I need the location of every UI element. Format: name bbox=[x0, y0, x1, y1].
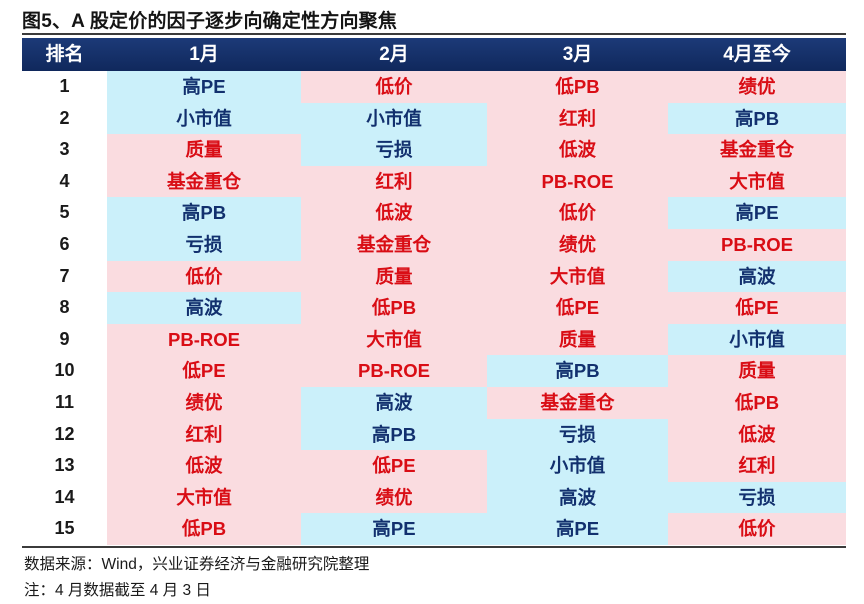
data-cutoff-note: 注：4 月数据截至 4 月 3 日 bbox=[24, 578, 211, 600]
table-row: 10低PEPB-ROE高PB质量 bbox=[22, 355, 846, 387]
factor-cell-apr: 高PE bbox=[668, 197, 846, 229]
factor-cell-mar: PB-ROE bbox=[487, 166, 668, 198]
table-row: 7低价质量大市值高波 bbox=[22, 261, 846, 293]
factor-cell-jan: PB-ROE bbox=[107, 324, 301, 356]
factor-cell-feb: 小市值 bbox=[301, 103, 487, 135]
factor-cell-jan: 高PE bbox=[107, 71, 301, 103]
source-note: 数据来源：Wind，兴业证券经济与金融研究院整理 bbox=[24, 552, 369, 574]
table-row: 8高波低PB低PE低PE bbox=[22, 292, 846, 324]
rank-cell: 13 bbox=[22, 450, 107, 482]
rank-cell: 6 bbox=[22, 229, 107, 261]
factor-cell-feb: 红利 bbox=[301, 166, 487, 198]
factor-cell-mar: 绩优 bbox=[487, 229, 668, 261]
factor-cell-feb: 高波 bbox=[301, 387, 487, 419]
table-row: 2小市值小市值红利高PB bbox=[22, 103, 846, 135]
factor-cell-jan: 低PE bbox=[107, 355, 301, 387]
factor-cell-apr: 红利 bbox=[668, 450, 846, 482]
factor-cell-feb: 低价 bbox=[301, 71, 487, 103]
factor-cell-feb: 基金重仓 bbox=[301, 229, 487, 261]
factor-cell-jan: 基金重仓 bbox=[107, 166, 301, 198]
column-header-feb: 2月 bbox=[301, 38, 487, 71]
rank-cell: 2 bbox=[22, 103, 107, 135]
table-row: 6亏损基金重仓绩优PB-ROE bbox=[22, 229, 846, 261]
factor-cell-jan: 低PB bbox=[107, 513, 301, 545]
factor-cell-jan: 小市值 bbox=[107, 103, 301, 135]
factor-cell-feb: PB-ROE bbox=[301, 355, 487, 387]
factor-cell-feb: 质量 bbox=[301, 261, 487, 293]
column-header-mar: 3月 bbox=[487, 38, 668, 71]
factor-cell-mar: 高PE bbox=[487, 513, 668, 545]
rank-cell: 11 bbox=[22, 387, 107, 419]
factor-cell-apr: 低PB bbox=[668, 387, 846, 419]
factor-cell-apr: 低PE bbox=[668, 292, 846, 324]
factor-cell-mar: 基金重仓 bbox=[487, 387, 668, 419]
factor-cell-apr: 基金重仓 bbox=[668, 134, 846, 166]
factor-cell-mar: 低价 bbox=[487, 197, 668, 229]
factor-cell-apr: 小市值 bbox=[668, 324, 846, 356]
factor-cell-apr: 亏损 bbox=[668, 482, 846, 514]
factor-cell-jan: 亏损 bbox=[107, 229, 301, 261]
factor-cell-feb: 低PB bbox=[301, 292, 487, 324]
factor-cell-mar: 大市值 bbox=[487, 261, 668, 293]
table-body: 1高PE低价低PB绩优2小市值小市值红利高PB3质量亏损低波基金重仓4基金重仓红… bbox=[22, 71, 846, 545]
factor-cell-mar: 高波 bbox=[487, 482, 668, 514]
table-row: 1高PE低价低PB绩优 bbox=[22, 71, 846, 103]
factor-cell-feb: 高PB bbox=[301, 419, 487, 451]
factor-cell-mar: 低波 bbox=[487, 134, 668, 166]
factor-cell-apr: PB-ROE bbox=[668, 229, 846, 261]
factor-cell-apr: 高PB bbox=[668, 103, 846, 135]
factor-cell-apr: 质量 bbox=[668, 355, 846, 387]
rank-cell: 7 bbox=[22, 261, 107, 293]
table-row: 5高PB低波低价高PE bbox=[22, 197, 846, 229]
factor-cell-mar: 高PB bbox=[487, 355, 668, 387]
table-row: 4基金重仓红利PB-ROE大市值 bbox=[22, 166, 846, 198]
factor-cell-jan: 红利 bbox=[107, 419, 301, 451]
factor-cell-mar: 亏损 bbox=[487, 419, 668, 451]
factor-cell-apr: 高波 bbox=[668, 261, 846, 293]
table-row: 11绩优高波基金重仓低PB bbox=[22, 387, 846, 419]
rank-cell: 5 bbox=[22, 197, 107, 229]
rank-cell: 8 bbox=[22, 292, 107, 324]
factor-cell-feb: 亏损 bbox=[301, 134, 487, 166]
factor-cell-mar: 质量 bbox=[487, 324, 668, 356]
factor-cell-mar: 低PB bbox=[487, 71, 668, 103]
factor-cell-apr: 低波 bbox=[668, 419, 846, 451]
rank-cell: 3 bbox=[22, 134, 107, 166]
factor-cell-jan: 低波 bbox=[107, 450, 301, 482]
factor-cell-mar: 低PE bbox=[487, 292, 668, 324]
factor-cell-apr: 大市值 bbox=[668, 166, 846, 198]
rank-cell: 14 bbox=[22, 482, 107, 514]
factor-cell-feb: 绩优 bbox=[301, 482, 487, 514]
factor-cell-jan: 大市值 bbox=[107, 482, 301, 514]
factor-cell-jan: 高波 bbox=[107, 292, 301, 324]
factor-cell-feb: 大市值 bbox=[301, 324, 487, 356]
column-header-rank: 排名 bbox=[22, 38, 107, 71]
factor-cell-mar: 小市值 bbox=[487, 450, 668, 482]
figure-container: 图5、A 股定价的因子逐步向确定性方向聚焦 排名1月2月3月4月至今 1高PE低… bbox=[0, 0, 864, 604]
table-row: 9PB-ROE大市值质量小市值 bbox=[22, 324, 846, 356]
factor-cell-jan: 绩优 bbox=[107, 387, 301, 419]
factor-cell-mar: 红利 bbox=[487, 103, 668, 135]
title-divider bbox=[22, 33, 846, 35]
column-header-jan: 1月 bbox=[107, 38, 301, 71]
factor-cell-jan: 质量 bbox=[107, 134, 301, 166]
factor-cell-jan: 高PB bbox=[107, 197, 301, 229]
table-header-row: 排名1月2月3月4月至今 bbox=[22, 38, 846, 71]
factor-cell-apr: 绩优 bbox=[668, 71, 846, 103]
figure-title: 图5、A 股定价的因子逐步向确定性方向聚焦 bbox=[22, 6, 397, 33]
footer-divider bbox=[22, 546, 846, 548]
factor-cell-apr: 低价 bbox=[668, 513, 846, 545]
rank-cell: 12 bbox=[22, 419, 107, 451]
factor-cell-feb: 高PE bbox=[301, 513, 487, 545]
factor-cell-feb: 低波 bbox=[301, 197, 487, 229]
table-row: 12红利高PB亏损低波 bbox=[22, 419, 846, 451]
rank-cell: 15 bbox=[22, 513, 107, 545]
rank-cell: 10 bbox=[22, 355, 107, 387]
factor-cell-jan: 低价 bbox=[107, 261, 301, 293]
column-header-apr: 4月至今 bbox=[668, 38, 846, 71]
rank-cell: 9 bbox=[22, 324, 107, 356]
table-row: 13低波低PE小市值红利 bbox=[22, 450, 846, 482]
rank-cell: 4 bbox=[22, 166, 107, 198]
table-row: 3质量亏损低波基金重仓 bbox=[22, 134, 846, 166]
rank-cell: 1 bbox=[22, 71, 107, 103]
table-row: 15低PB高PE高PE低价 bbox=[22, 513, 846, 545]
table-row: 14大市值绩优高波亏损 bbox=[22, 482, 846, 514]
factor-cell-feb: 低PE bbox=[301, 450, 487, 482]
